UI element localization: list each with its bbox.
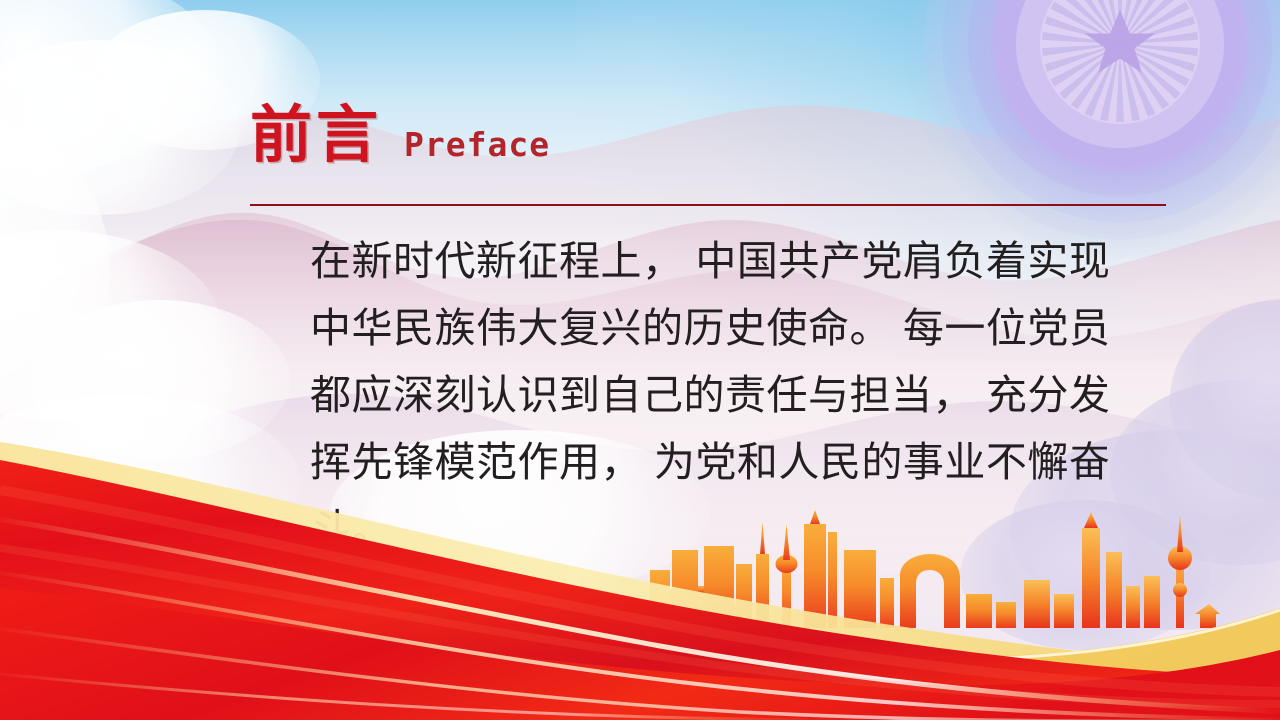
page-title-en: Preface: [404, 128, 550, 161]
page-title-cn: 前言: [250, 104, 382, 166]
slide-canvas: 前言 Preface 在新时代新征程上， 中国共产党肩负着实现 中华民族伟大复兴…: [0, 0, 1280, 720]
title-divider-rule: [250, 204, 1166, 206]
title-block: 前言 Preface: [250, 104, 1170, 188]
title-row: 前言 Preface: [250, 104, 1170, 188]
preface-body-text: 在新时代新征程上， 中国共产党肩负着实现 中华民族伟大复兴的历史使命。 每一位党…: [310, 228, 1190, 563]
